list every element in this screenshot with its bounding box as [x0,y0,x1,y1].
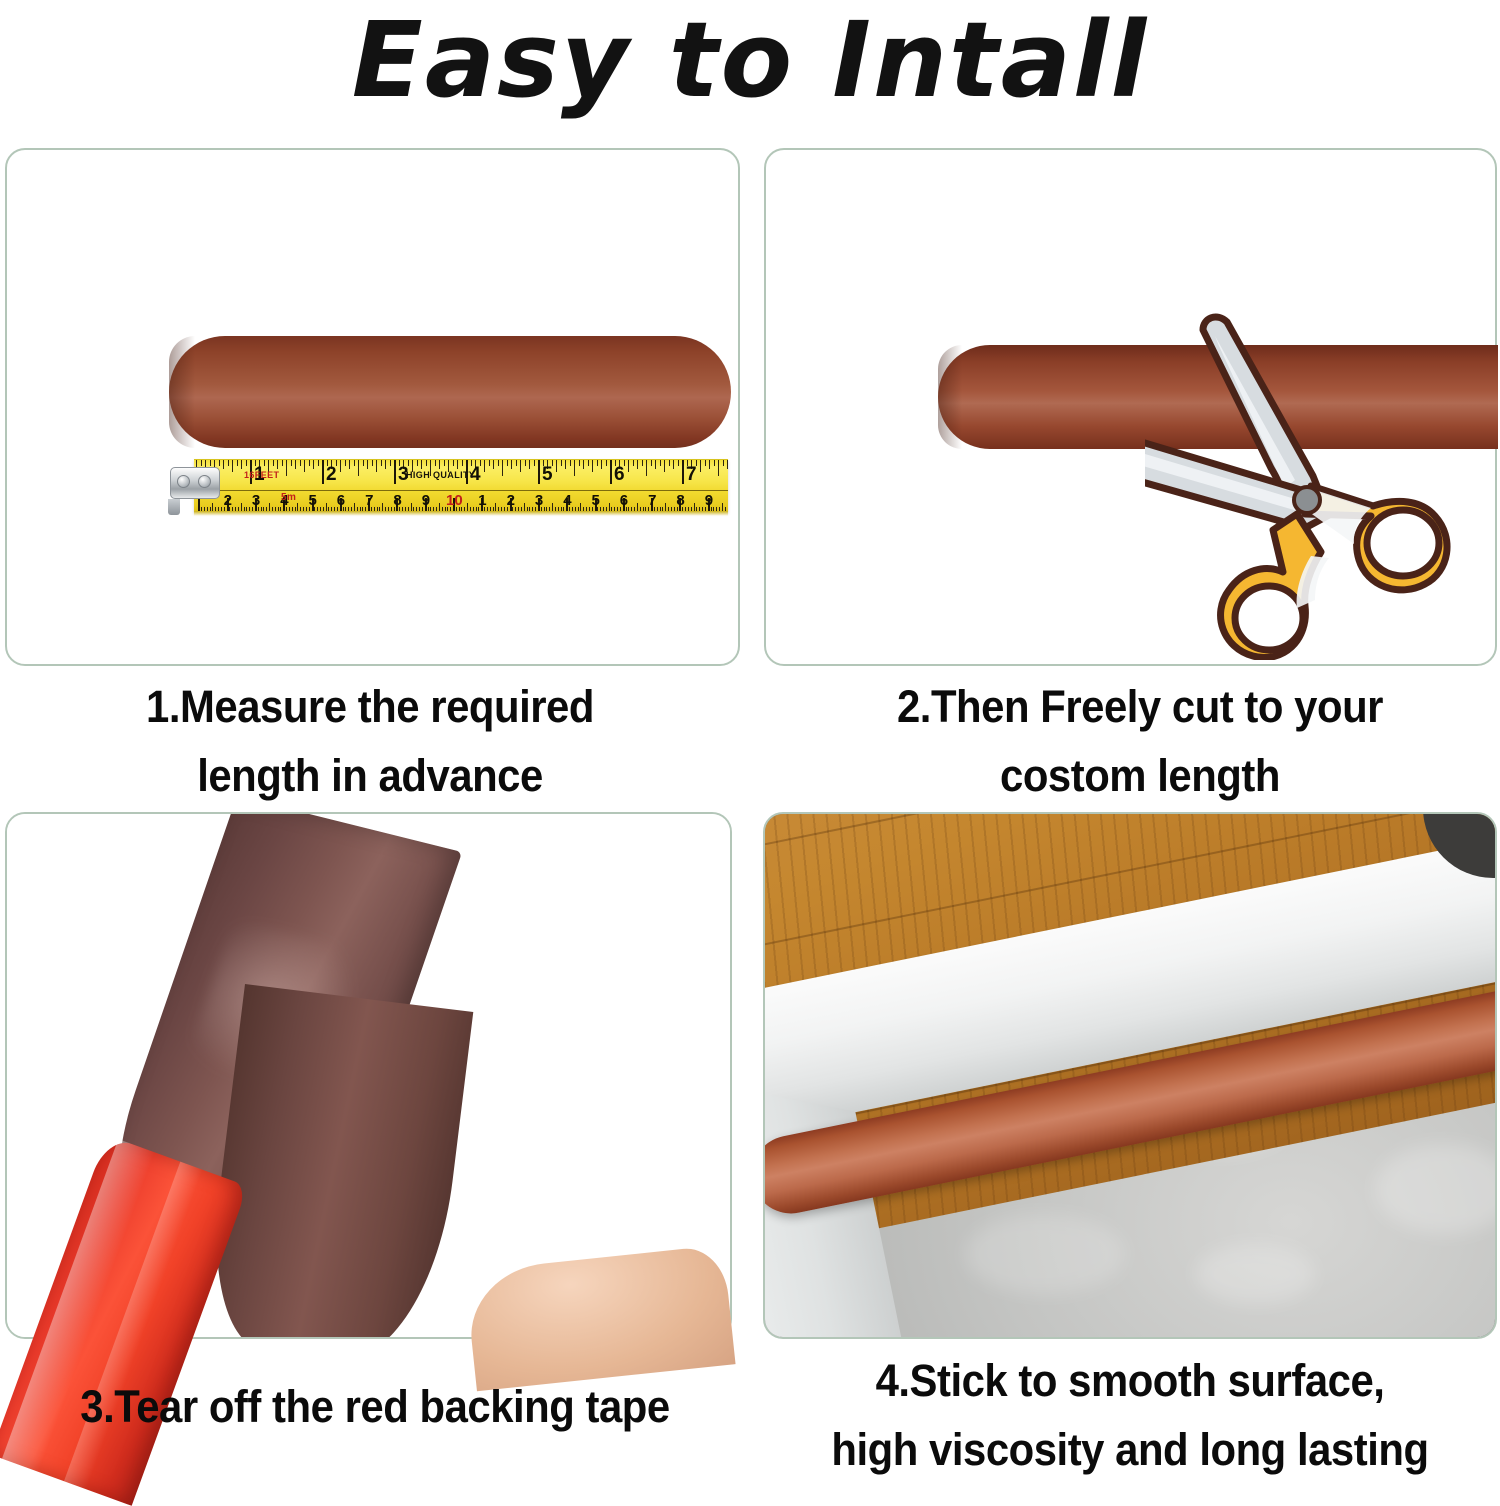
tape-tick [453,460,454,466]
tape-tick [556,460,557,472]
tape-tick [678,460,679,466]
caption-line: high viscosity and long lasting [786,1415,1474,1484]
tape-tick [579,460,580,466]
tape-tick [313,460,314,469]
tape-metric-number: 10 [446,493,463,508]
tape-imperial-number: 5 [542,465,553,484]
tape-tick [601,460,602,469]
tape-tick [322,460,324,484]
tape-tick [727,460,728,469]
caption-step-1: 1.Measure the required length in advance [82,672,659,810]
tape-blade-underside [194,511,728,516]
tape-tick [516,460,517,466]
tape-metric-number: 2 [507,493,515,508]
tape-tick [372,460,373,466]
tape-metric-number: 3 [535,493,543,508]
concrete-mottle [965,1214,1125,1294]
tape-tick [529,460,530,469]
tape-tick [714,460,715,466]
tape-tick [700,460,701,472]
tape-tick [655,460,656,469]
tape-tick [394,460,396,484]
tape-tick [376,460,377,472]
tape-tick [525,460,526,466]
tape-tick [421,460,422,469]
tape-hook-tip [168,499,180,515]
tape-tick [718,460,719,476]
tape-imperial-number: 6 [614,465,625,484]
tape-tick [457,460,458,469]
tape-tick [723,460,724,466]
tape-tick [237,460,238,466]
tape-tick [363,460,364,466]
caption-line: 2.Then Freely cut to your [842,672,1437,741]
caption-line: length in advance [82,741,659,810]
tape-tick [534,460,535,466]
tape-tick [223,460,224,469]
tape-metric-number: 6 [620,493,628,508]
caption-line: 3.Tear off the red backing tape [26,1372,724,1441]
tape-blade: 12345672345678910123456789 16FEET HIGH Q… [194,459,728,512]
tape-metric-number: 9 [422,493,430,508]
installed-strip-photo [765,814,1495,1337]
brown-strip-illustration [169,336,731,448]
tape-tick [592,460,593,472]
tape-metric-number: 5 [592,493,600,508]
tape-tick [282,460,283,466]
tape-imperial-number: 7 [686,465,697,484]
tape-tick [390,460,391,466]
tape-metric-number: 5 [309,493,317,508]
tape-tick [588,460,589,466]
tape-metric-length-label: 5m [281,493,296,503]
concrete-mottle [1375,1144,1495,1234]
tape-tick [385,460,386,469]
tape-metric-number: 8 [393,493,401,508]
tape-tick [358,460,359,476]
tape-tick [498,460,499,466]
tape-tick [340,460,341,472]
tape-tick [228,460,229,466]
tape-imperial-length-label: 16FEET [244,471,279,480]
tape-tick [628,460,629,472]
tape-tick [538,460,540,484]
tape-tick [484,460,485,472]
tape-measure-illustration: 12345672345678910123456789 16FEET HIGH Q… [168,459,728,515]
tape-tick [637,460,638,469]
tape-tick [304,460,305,472]
tape-tick [232,460,233,472]
tape-hook-rivet [198,475,211,488]
tape-tick [633,460,634,466]
tape-tick [570,460,571,466]
tape-tick [520,460,521,472]
tape-tick [682,460,684,484]
tape-tick [705,460,706,466]
tape-tick [349,460,350,469]
tape-tick [417,460,418,466]
tape-tick [574,460,575,476]
tape-tick [489,460,490,466]
tape-tick [660,460,661,466]
tape-tick [367,460,368,469]
tape-tick [610,460,612,484]
tape-hook-rivet [177,475,190,488]
tape-tick [646,460,647,476]
tape-tick [286,460,287,476]
tape-tick [435,460,436,466]
tape-tick [246,460,247,466]
tape-tick [502,460,503,476]
concrete-mottle [1195,1244,1315,1304]
wood-plank-seam [765,814,1495,855]
tape-tick [561,460,562,466]
tape-tick [300,460,301,466]
tape-tick [309,460,310,466]
tape-tick [597,460,598,466]
tape-metric-number: 8 [676,493,684,508]
tape-brand-label: HIGH QUALITY [406,471,475,480]
tape-tick [318,460,319,466]
caption-step-3: 3.Tear off the red backing tape [26,1372,724,1441]
tape-tick [673,460,674,469]
tape-tick [277,460,278,469]
tape-tick [439,460,440,469]
tape-tick [583,460,584,469]
tape-tick-marks: 12345672345678910123456789 [194,460,728,512]
tape-imperial-number: 2 [326,465,337,484]
infographic-page: Easy to Intall 1234567234567891012345678… [0,0,1500,1485]
caption-line: 4.Stick to smooth surface, [786,1346,1474,1415]
brown-tape-strip-curved-section [201,984,473,1337]
caption-line: costom length [842,741,1437,810]
tape-metric-number: 7 [365,493,373,508]
tape-metric-number: 6 [337,493,345,508]
tape-tick [664,460,665,472]
tape-tick [507,460,508,466]
tape-tick [606,460,607,466]
tape-metric-number: 2 [224,493,232,508]
tape-tick [493,460,494,469]
tape-tick [642,460,643,466]
tape-tick [241,460,242,469]
tape-end-hook [168,463,222,503]
tape-tick [426,460,427,466]
tape-tick [291,460,292,466]
tape-metric-number: 4 [563,493,571,508]
tape-tick [273,460,274,466]
caption-line: 1.Measure the required [82,672,659,741]
tape-tick [709,460,710,469]
tape-tick [354,460,355,466]
scissors-icon [1145,300,1485,660]
tape-tick [565,460,566,469]
tape-tick [345,460,346,466]
tape-metric-number: 3 [252,493,260,508]
tape-tick [444,460,445,466]
caption-step-2: 2.Then Freely cut to your costom length [842,672,1437,810]
tape-tick [462,460,463,466]
tape-metric-number: 9 [705,493,713,508]
tape-tick [669,460,670,466]
tape-tick [511,460,512,469]
caption-step-4: 4.Stick to smooth surface, high viscosit… [786,1346,1474,1484]
tape-tick [381,460,382,466]
tape-metric-number: 7 [648,493,656,508]
tape-tick [651,460,652,466]
page-title: Easy to Intall [0,0,1500,124]
tape-metric-number: 1 [478,493,486,508]
tape-tick [295,460,296,469]
